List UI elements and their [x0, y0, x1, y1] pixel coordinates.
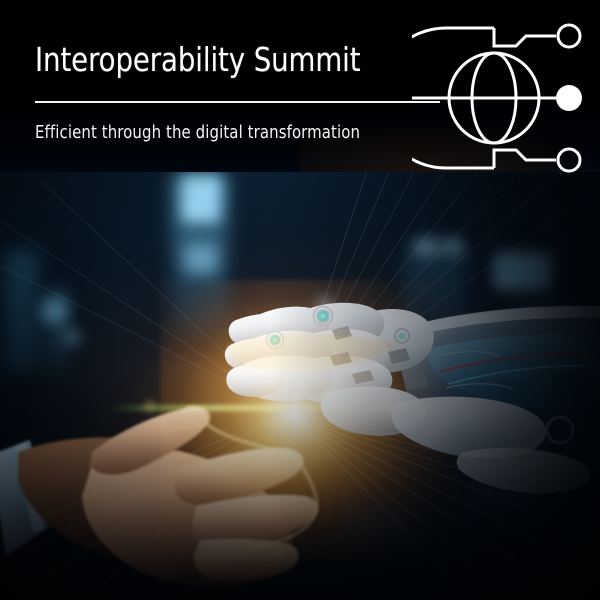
logo-circuit-trace-top — [494, 28, 556, 46]
logo-node-bottom-open — [558, 149, 580, 171]
logo-circuit-trace-bottom — [494, 150, 556, 168]
logo-node-middle-filled — [556, 85, 582, 111]
logo-node-top-open — [558, 25, 580, 47]
poster-root: Interoperability Summit Efficient throug… — [0, 0, 600, 600]
page-subtitle: Efficient through the digital transforma… — [35, 122, 360, 144]
header-divider-rule — [35, 101, 440, 103]
page-title: Interoperability Summit — [35, 40, 360, 80]
interoperability-globe-circuit-logo — [412, 22, 592, 174]
